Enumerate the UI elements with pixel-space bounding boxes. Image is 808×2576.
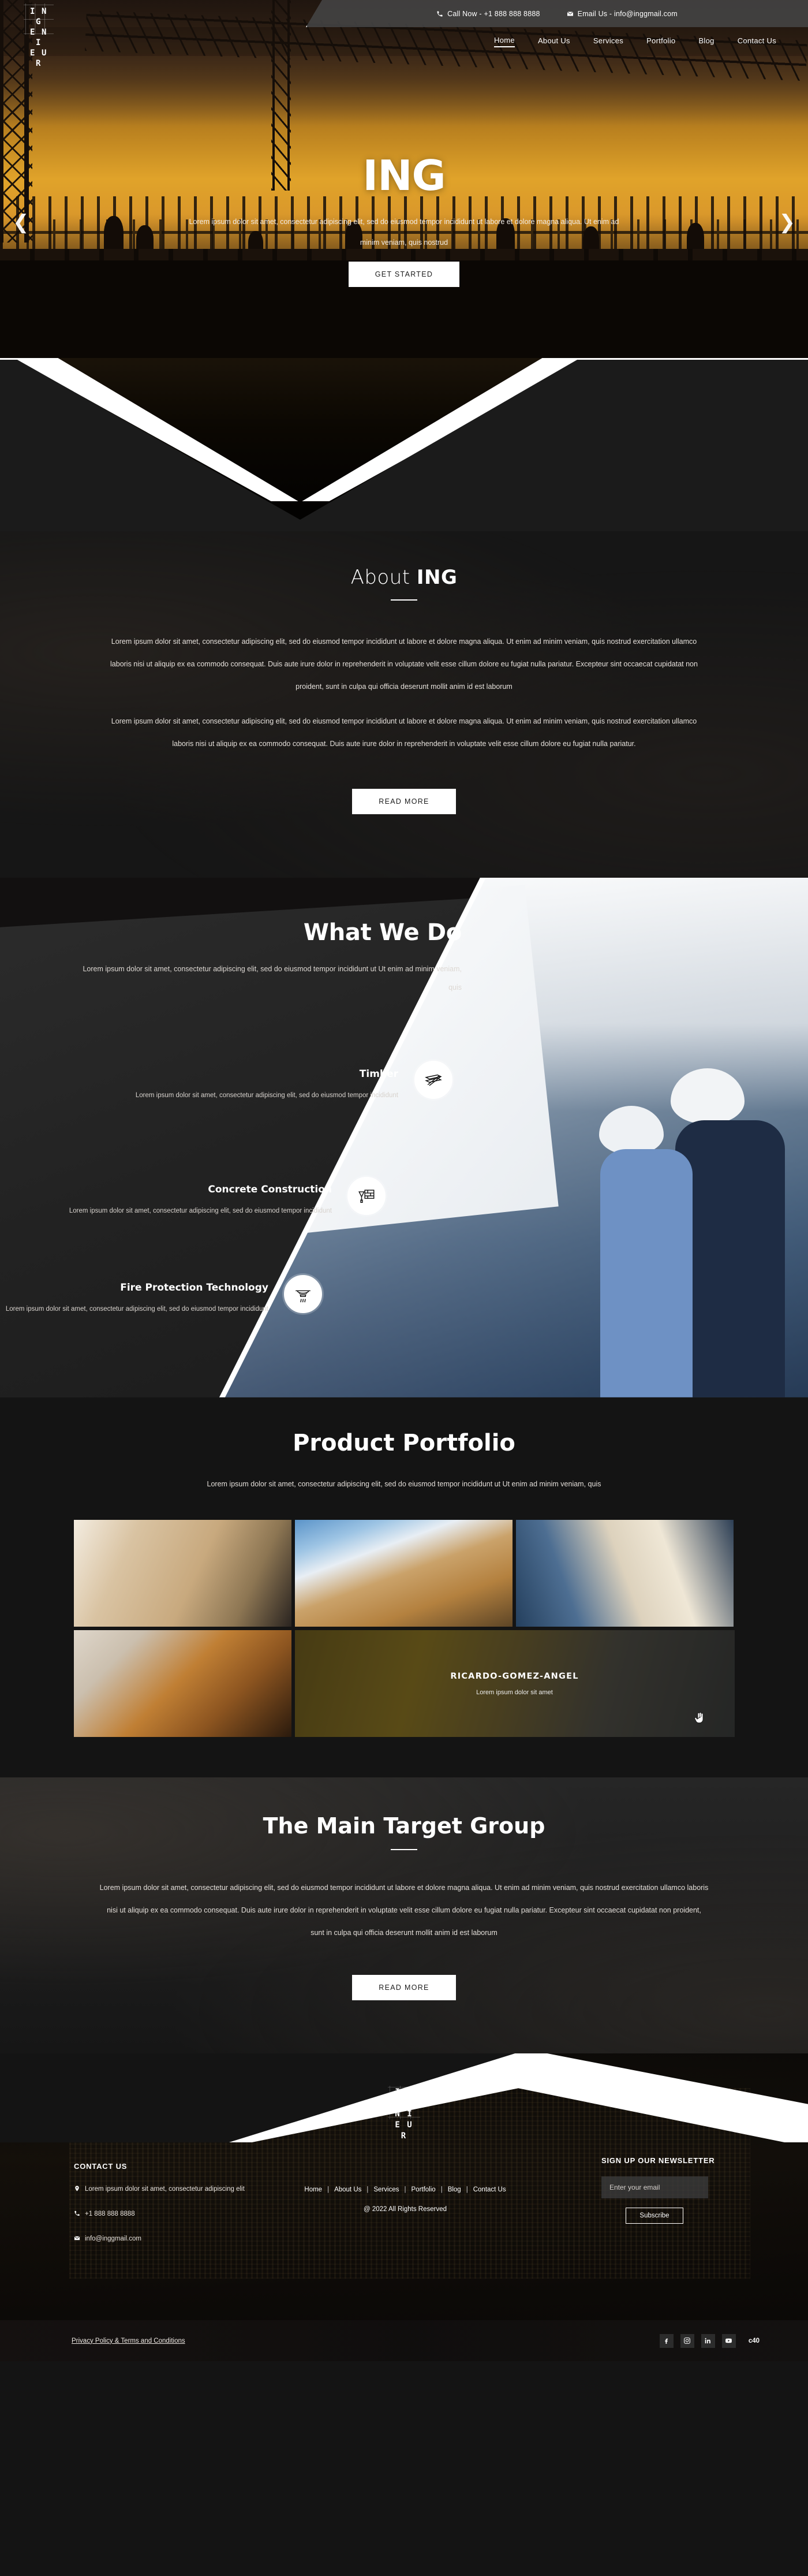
main-navigation-bar: Home About Us Services Portfolio Blog Co… xyxy=(0,27,808,56)
newsletter-email-input[interactable] xyxy=(601,2176,708,2198)
footer-nav-separator: | xyxy=(405,2186,406,2193)
nav-item-contact-us[interactable]: Contact Us xyxy=(738,36,776,47)
smoke-detector-icon xyxy=(284,1275,322,1313)
social-links: c40 xyxy=(660,2334,760,2348)
target-group-title: The Main Target Group xyxy=(0,1813,808,1839)
nav-item-portfolio[interactable]: Portfolio xyxy=(646,36,675,47)
map-pin-icon xyxy=(74,2183,80,2197)
phone-icon xyxy=(436,10,443,17)
footer-section: I N G E N I E U R CONTACT US Lorem ipsum… xyxy=(0,2053,808,2320)
service-title: Timber xyxy=(0,1068,398,1080)
bottom-bar: Privacy Policy & Terms and Conditions c4… xyxy=(0,2320,808,2361)
timber-planks-icon xyxy=(414,1061,452,1099)
facebook-icon[interactable] xyxy=(660,2334,674,2348)
portfolio-subtitle: Lorem ipsum dolor sit amet, consectetur … xyxy=(190,1474,618,1494)
nav-item-about-us[interactable]: About Us xyxy=(538,36,570,47)
instagram-icon[interactable] xyxy=(680,2334,694,2348)
portfolio-item[interactable] xyxy=(295,1520,513,1627)
footer-nav-separator: | xyxy=(441,2186,443,2193)
target-group-rule xyxy=(391,1849,417,1850)
footer-logo-line-3: E U R xyxy=(395,2120,413,2141)
hand-cursor-icon xyxy=(694,1712,705,1724)
footer-nav-item-home[interactable]: Home xyxy=(299,2186,327,2193)
footer-nav-item-portfolio[interactable]: Portfolio xyxy=(406,2186,441,2193)
brand-logo-line-3: E U R xyxy=(28,48,49,69)
hero-section: Call Now - +1 888 888 8888 Email Us - in… xyxy=(0,0,808,358)
footer-copyright: @ 2022 All Rights Reserved xyxy=(272,2206,538,2213)
get-started-button[interactable]: GET STARTED xyxy=(349,262,459,287)
footer-email-text: info@inggmail.com xyxy=(85,2233,141,2246)
service-description: Lorem ipsum dolor sit amet, consectetur … xyxy=(0,1203,332,1218)
envelope-icon xyxy=(74,2233,80,2247)
chevron-right-icon[interactable]: ❯ xyxy=(779,213,796,232)
service-title: Fire Protection Technology xyxy=(0,1282,268,1293)
footer-phone-text: +1 888 888 8888 xyxy=(85,2208,135,2221)
portfolio-item-caption: Lorem ipsum dolor sit amet xyxy=(476,1689,553,1696)
footer-brand-logo[interactable]: I N G E N I E U R xyxy=(391,2087,417,2142)
portfolio-grid: RICARDO-GOMEZ-ANGEL Lorem ipsum dolor si… xyxy=(74,1520,735,1737)
footer-content: I N G E N I E U R CONTACT US Lorem ipsum… xyxy=(0,2053,808,2320)
main-navigation: Home About Us Services Portfolio Blog Co… xyxy=(494,27,776,56)
hero-subtitle: Lorem ipsum dolor sit amet, consectetur … xyxy=(185,211,623,254)
phone-icon xyxy=(74,2208,80,2222)
footer-nav-item-contact-us[interactable]: Contact Us xyxy=(468,2186,511,2193)
footer-nav-item-blog[interactable]: Blog xyxy=(443,2186,466,2193)
what-we-do-content: What We Do Lorem ipsum dolor sit amet, c… xyxy=(0,878,808,1397)
about-paragraph-2: Lorem ipsum dolor sit amet, consectetur … xyxy=(104,710,704,755)
hero-title: ING xyxy=(0,155,808,196)
portfolio-item[interactable] xyxy=(516,1520,734,1627)
footer-phone-row[interactable]: +1 888 888 8888 xyxy=(74,2208,270,2222)
service-item-concrete-construction[interactable]: Concrete Construction Lorem ipsum dolor … xyxy=(0,1184,332,1218)
target-group-section: The Main Target Group Lorem ipsum dolor … xyxy=(0,1777,808,2053)
hero-content: ING Lorem ipsum dolor sit amet, consecte… xyxy=(0,155,808,287)
footer-address-text: Lorem ipsum dolor sit amet, consectetur … xyxy=(85,2183,245,2196)
portfolio-section: Product Portfolio Lorem ipsum dolor sit … xyxy=(0,1397,808,1777)
envelope-icon xyxy=(567,10,574,17)
footer-nav-item-about-us[interactable]: About Us xyxy=(329,2186,366,2193)
target-group-paragraph: Lorem ipsum dolor sit amet, consectetur … xyxy=(100,1877,709,1944)
brand-logo-line-1: I N G xyxy=(28,6,49,27)
footer-contact-block: CONTACT US Lorem ipsum dolor sit amet, c… xyxy=(74,2162,270,2258)
footer-navigation: Home | About Us | Services | Portfolio |… xyxy=(272,2186,538,2193)
about-paragraph-1: Lorem ipsum dolor sit amet, consectetur … xyxy=(104,631,704,698)
service-description: Lorem ipsum dolor sit amet, consectetur … xyxy=(0,1088,398,1103)
topbar-email-label: Email Us - info@inggmail.com xyxy=(578,10,678,18)
privacy-policy-link[interactable]: Privacy Policy & Terms and Conditions xyxy=(72,2338,185,2344)
service-title: Concrete Construction xyxy=(0,1184,332,1195)
about-section: About ING Lorem ipsum dolor sit amet, co… xyxy=(0,531,808,878)
build-code-label: c40 xyxy=(749,2338,760,2344)
about-cta-wrap: READ MORE xyxy=(0,781,808,814)
about-read-more-button[interactable]: READ MORE xyxy=(352,789,455,814)
what-we-do-title: What We Do xyxy=(0,919,462,946)
chevron-divider xyxy=(0,358,808,531)
footer-contact-heading: CONTACT US xyxy=(74,2162,270,2171)
topbar-email[interactable]: Email Us - info@inggmail.com xyxy=(567,10,678,18)
about-title-rule xyxy=(391,599,417,601)
service-item-timber[interactable]: Timber Lorem ipsum dolor sit amet, conse… xyxy=(0,1068,398,1103)
portfolio-item[interactable] xyxy=(74,1630,291,1737)
newsletter-heading: SIGN UP OUR NEWSLETTER xyxy=(601,2156,740,2165)
footer-nav-separator: | xyxy=(366,2186,368,2193)
linkedin-icon[interactable] xyxy=(701,2334,715,2348)
portfolio-item-featured[interactable]: RICARDO-GOMEZ-ANGEL Lorem ipsum dolor si… xyxy=(295,1630,735,1737)
portfolio-title: Product Portfolio xyxy=(0,1430,808,1456)
footer-nav-item-services[interactable]: Services xyxy=(368,2186,404,2193)
chevron-left-icon[interactable]: ❮ xyxy=(13,213,29,232)
subscribe-button[interactable]: Subscribe xyxy=(626,2208,683,2224)
nav-item-blog[interactable]: Blog xyxy=(698,36,714,47)
nav-item-services[interactable]: Services xyxy=(593,36,623,47)
about-title: About ING xyxy=(0,566,808,589)
about-title-bold: ING xyxy=(417,566,458,589)
footer-nav-separator: | xyxy=(466,2186,468,2193)
topbar-phone[interactable]: Call Now - +1 888 888 8888 xyxy=(436,10,540,18)
portfolio-item-name: RICARDO-GOMEZ-ANGEL xyxy=(450,1672,578,1681)
footer-email-row[interactable]: info@inggmail.com xyxy=(74,2233,270,2247)
portfolio-item-overlay: RICARDO-GOMEZ-ANGEL Lorem ipsum dolor si… xyxy=(295,1630,735,1737)
service-item-fire-protection-technology[interactable]: Fire Protection Technology Lorem ipsum d… xyxy=(0,1282,268,1317)
brand-logo-line-2: E N I xyxy=(28,27,49,48)
youtube-icon[interactable] xyxy=(722,2334,736,2348)
footer-address-row: Lorem ipsum dolor sit amet, consectetur … xyxy=(74,2183,270,2197)
nav-item-home[interactable]: Home xyxy=(494,36,515,47)
footer-newsletter-block: SIGN UP OUR NEWSLETTER Subscribe xyxy=(601,2156,740,2224)
footer-nav-separator: | xyxy=(327,2186,329,2193)
about-title-light: About xyxy=(351,566,417,589)
trowel-brick-icon xyxy=(347,1177,386,1215)
target-group-read-more-button[interactable]: READ MORE xyxy=(352,1975,455,2000)
topbar-phone-label: Call Now - +1 888 888 8888 xyxy=(447,10,540,18)
target-group-cta-wrap: READ MORE xyxy=(0,1967,808,2000)
service-description: Lorem ipsum dolor sit amet, consectetur … xyxy=(0,1302,268,1317)
what-we-do-subtitle: Lorem ipsum dolor sit amet, consectetur … xyxy=(69,960,462,997)
page-root: Call Now - +1 888 888 8888 Email Us - in… xyxy=(0,0,808,2361)
brand-logo[interactable]: I N G E N I E U R xyxy=(27,5,50,70)
what-we-do-section: What We Do Lorem ipsum dolor sit amet, c… xyxy=(0,878,808,1397)
portfolio-item[interactable] xyxy=(74,1520,291,1627)
